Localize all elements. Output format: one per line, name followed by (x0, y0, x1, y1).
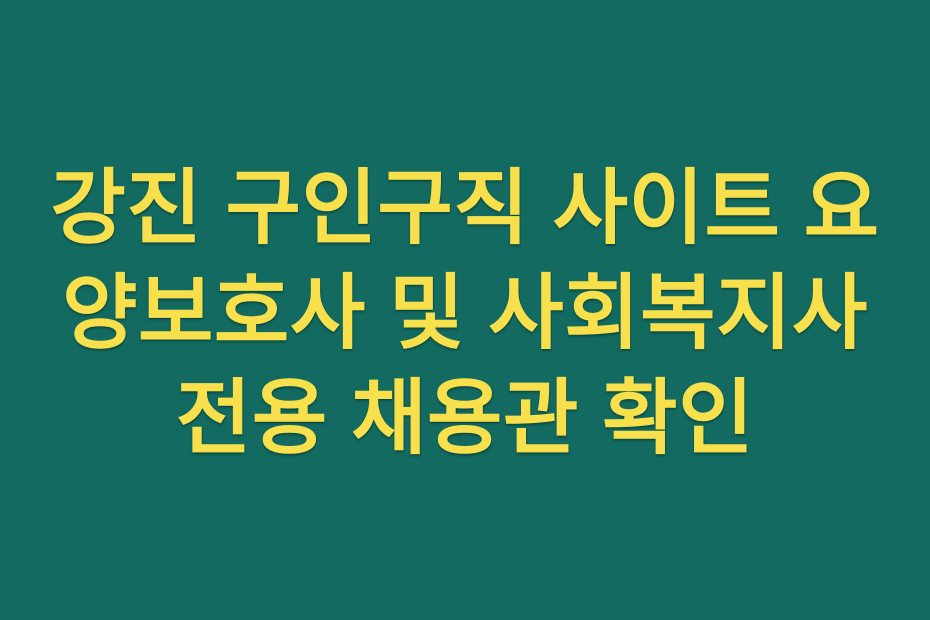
title-line-2: 양보호사 및 사회복지사 (0, 261, 930, 366)
title-line-3: 전용 채용관 확인 (0, 366, 930, 471)
thumbnail-canvas: 강진 구인구직 사이트 요 양보호사 및 사회복지사 전용 채용관 확인 (0, 0, 930, 620)
title-block: 강진 구인구직 사이트 요 양보호사 및 사회복지사 전용 채용관 확인 (0, 0, 930, 620)
title-line-1: 강진 구인구직 사이트 요 (0, 156, 930, 261)
